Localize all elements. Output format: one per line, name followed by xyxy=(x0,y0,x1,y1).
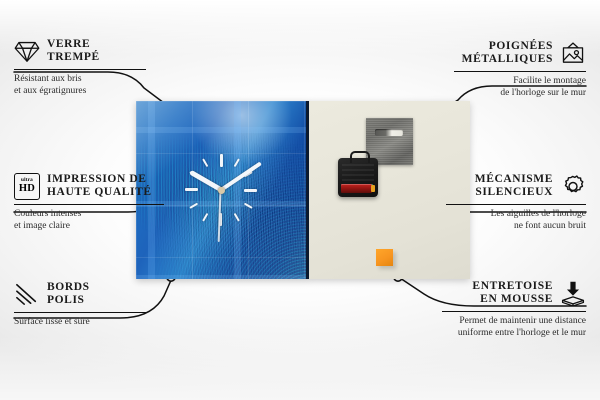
quartz-mechanism xyxy=(338,158,378,197)
ultra-hd-icon: ultra HD xyxy=(14,173,40,199)
feature-description: Résistant aux bris et aux égratignures xyxy=(14,74,146,97)
foam-spacer xyxy=(376,249,393,266)
feature-description: Permet de maintenir une distance uniform… xyxy=(442,316,586,339)
feature-entretoise-en-mousse[interactable]: ENTRETOISE EN MOUSSE Permet de maintenir… xyxy=(442,280,586,339)
foam-spacer-icon xyxy=(560,280,586,306)
gear-icon xyxy=(560,173,586,199)
feature-header: VERRE TREMPÉ xyxy=(14,38,146,64)
feature-description: Couleurs intenses et image claire xyxy=(14,209,164,232)
feature-verre-trempe[interactable]: VERRE TREMPÉ Résistant aux bris et aux é… xyxy=(14,38,146,97)
feature-title: IMPRESSION DE HAUTE QUALITÉ xyxy=(47,173,152,199)
mechanism-hanging-loop xyxy=(350,151,370,163)
divider xyxy=(442,311,586,312)
divider xyxy=(14,312,146,313)
feature-title: MÉCANISME SILENCIEUX xyxy=(475,173,553,199)
feature-description: Facilite le montage de l'horloge sur le … xyxy=(454,76,586,99)
feature-poignees-metalliques[interactable]: POIGNÉES MÉTALLIQUES Facilite le montage… xyxy=(454,40,586,99)
feature-header: BORDS POLIS xyxy=(14,281,146,307)
feature-title: VERRE TREMPÉ xyxy=(47,38,100,64)
feature-title: POIGNÉES MÉTALLIQUES xyxy=(462,40,553,66)
feature-mecanisme-silencieux[interactable]: MÉCANISME SILENCIEUX Les aiguilles de l'… xyxy=(446,173,586,232)
feature-description: Surface lisse et sûre xyxy=(14,317,146,329)
feature-bords-polis[interactable]: BORDS POLIS Surface lisse et sûre xyxy=(14,281,146,329)
divider xyxy=(14,204,164,205)
feature-title: ENTRETOISE EN MOUSSE xyxy=(472,280,553,306)
divider xyxy=(446,204,586,205)
feature-description: Les aiguilles de l'horloge ne font aucun… xyxy=(446,209,586,232)
feature-header: POIGNÉES MÉTALLIQUES xyxy=(454,40,586,66)
hanging-frame-icon xyxy=(560,40,586,66)
feature-title: BORDS POLIS xyxy=(47,281,90,307)
feature-header: ENTRETOISE EN MOUSSE xyxy=(442,280,586,306)
divider xyxy=(454,71,586,72)
mechanism-embossing xyxy=(342,163,374,181)
battery xyxy=(341,184,372,193)
feature-header: MÉCANISME SILENCIEUX xyxy=(446,173,586,199)
product-wall-clock xyxy=(136,101,470,279)
infographic-canvas: VERRE TREMPÉ Résistant aux bris et aux é… xyxy=(0,0,600,400)
feature-impression-haute-qualite[interactable]: ultra HD IMPRESSION DE HAUTE QUALITÉ Cou… xyxy=(14,173,164,232)
hanger-slot xyxy=(375,129,403,136)
polished-edges-icon xyxy=(14,281,40,307)
diamond-icon xyxy=(14,38,40,64)
divider xyxy=(14,69,146,70)
feature-header: ultra HD IMPRESSION DE HAUTE QUALITÉ xyxy=(14,173,164,199)
clock-center-cap xyxy=(218,187,225,194)
